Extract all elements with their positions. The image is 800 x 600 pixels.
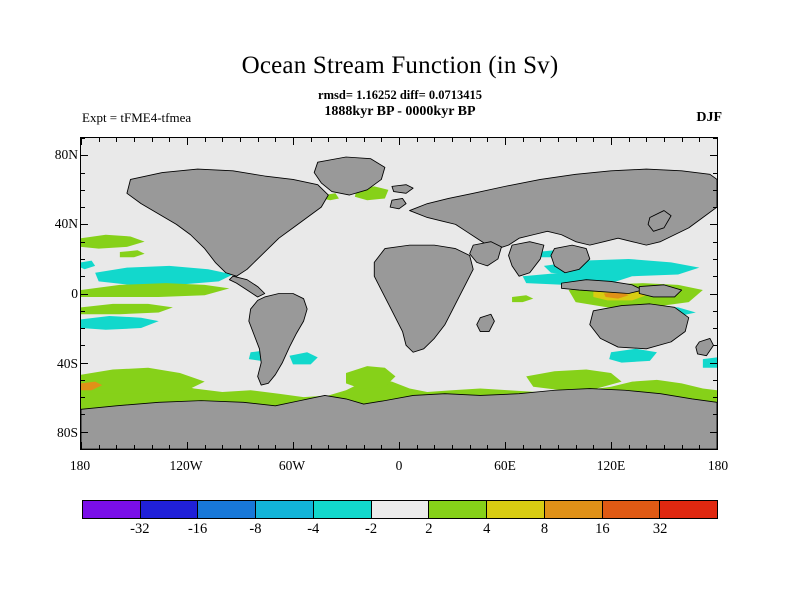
x-tick--60 <box>293 442 294 449</box>
x-tick-top--150 <box>134 138 135 142</box>
y-tick-80 <box>81 155 88 156</box>
x-tick-150 <box>664 445 665 449</box>
x-tick-top--130 <box>169 138 170 142</box>
x-tick-120 <box>611 442 612 449</box>
x-tick-top--40 <box>328 138 329 142</box>
x-tick--110 <box>205 445 206 449</box>
x-tick-top-50 <box>487 138 488 142</box>
x-tick-label-120w: 120W <box>151 458 221 474</box>
x-tick-100 <box>576 445 577 449</box>
y-tick--20 <box>81 328 85 329</box>
x-tick-top--140 <box>152 138 153 142</box>
x-tick-130 <box>629 445 630 449</box>
y-tick--10 <box>81 311 85 312</box>
x-tick-top-60 <box>505 138 506 145</box>
x-tick-top--30 <box>346 138 347 142</box>
x-tick-top-120 <box>611 138 612 145</box>
y-tick-right-10 <box>713 276 717 277</box>
x-tick--160 <box>116 445 117 449</box>
x-tick-top--60 <box>293 138 294 145</box>
x-tick--40 <box>328 445 329 449</box>
y-tick-right--20 <box>713 328 717 329</box>
x-tick--80 <box>258 445 259 449</box>
y-tick-label-80n: 80N <box>30 148 78 162</box>
x-tick-60 <box>505 442 506 449</box>
y-tick--70 <box>81 414 85 415</box>
x-tick-20 <box>434 445 435 449</box>
x-tick-top-160 <box>682 138 683 142</box>
y-tick-label-40n: 40N <box>30 217 78 231</box>
colorbar-band-8 <box>545 501 603 518</box>
x-tick-50 <box>487 445 488 449</box>
colorbar-band-10 <box>660 501 717 518</box>
x-tick-label-0: 0 <box>364 458 434 474</box>
y-tick-50 <box>81 207 85 208</box>
map-plot-area <box>80 137 718 450</box>
colorbar-band-9 <box>603 501 661 518</box>
experiment-label: Expt = tFME4-tfmea <box>82 110 191 126</box>
y-tick-right-90 <box>713 138 717 139</box>
colorbar-tick-16: 16 <box>595 521 610 538</box>
y-tick-right-30 <box>713 242 717 243</box>
x-tick-10 <box>417 445 418 449</box>
y-tick-right-20 <box>713 259 717 260</box>
y-tick-10 <box>81 276 85 277</box>
x-tick-top--90 <box>240 138 241 142</box>
colorbar-band-0 <box>83 501 141 518</box>
x-tick-30 <box>452 445 453 449</box>
x-tick-top-40 <box>470 138 471 142</box>
colorbar-band-6 <box>429 501 487 518</box>
x-tick-110 <box>593 445 594 449</box>
y-tick-right-60 <box>713 190 717 191</box>
x-tick-top--50 <box>311 138 312 142</box>
y-tick-right-0 <box>710 294 717 295</box>
y-tick-right-80 <box>710 155 717 156</box>
y-tick-right--80 <box>710 432 717 433</box>
x-tick-top-90 <box>558 138 559 142</box>
y-tick--60 <box>81 397 85 398</box>
x-tick-top--110 <box>205 138 206 142</box>
x-tick-180 <box>717 442 718 449</box>
y-tick-30 <box>81 242 85 243</box>
y-tick-label-40s: 40S <box>30 357 78 371</box>
x-tick-top--20 <box>364 138 365 142</box>
x-tick-top-110 <box>593 138 594 142</box>
y-tick-label-0: 0 <box>30 287 78 301</box>
colorbar-tick-8: 8 <box>541 521 548 538</box>
x-tick-80 <box>540 445 541 449</box>
y-tick-right--10 <box>713 311 717 312</box>
y-tick-label-80s: 80S <box>30 426 78 440</box>
y-tick--50 <box>81 380 85 381</box>
colorbar-tick--4: -4 <box>307 521 319 538</box>
x-tick-top--160 <box>116 138 117 142</box>
y-tick--90 <box>81 449 85 450</box>
y-tick-60 <box>81 190 85 191</box>
x-tick-top-130 <box>629 138 630 142</box>
x-tick-top-80 <box>540 138 541 142</box>
colorbar-band-7 <box>487 501 545 518</box>
x-tick--170 <box>99 445 100 449</box>
colorbar-tick-labels: -32-16-8-4-22481632 <box>82 521 718 541</box>
rmsd-annotation: rmsd= 1.16252 diff= 0.0713415 <box>0 88 800 103</box>
world-map <box>81 138 717 449</box>
x-tick--90 <box>240 445 241 449</box>
x-tick--50 <box>311 445 312 449</box>
colorbar-band-5 <box>372 501 430 518</box>
y-tick-20 <box>81 259 85 260</box>
x-tick--30 <box>346 445 347 449</box>
y-tick--80 <box>81 432 88 433</box>
y-tick--40 <box>81 363 88 364</box>
x-tick-140 <box>646 445 647 449</box>
x-tick-top-20 <box>434 138 435 142</box>
colorbar <box>82 500 718 519</box>
x-tick-90 <box>558 445 559 449</box>
colorbar-tick-4: 4 <box>483 521 490 538</box>
x-tick-top--70 <box>275 138 276 142</box>
x-tick--10 <box>381 445 382 449</box>
x-tick-top-70 <box>523 138 524 142</box>
y-tick--30 <box>81 345 85 346</box>
x-tick--180 <box>81 442 82 449</box>
colorbar-band-3 <box>256 501 314 518</box>
colorbar-band-4 <box>314 501 372 518</box>
colorbar-band-2 <box>198 501 256 518</box>
x-tick-label-60w: 60W <box>257 458 327 474</box>
y-tick-0 <box>81 294 88 295</box>
x-tick-label-120e: 120E <box>576 458 646 474</box>
y-tick-90 <box>81 138 85 139</box>
x-tick-top-180 <box>717 138 718 145</box>
x-tick--120 <box>187 442 188 449</box>
x-tick--130 <box>169 445 170 449</box>
y-tick-40 <box>81 224 88 225</box>
x-tick-170 <box>699 445 700 449</box>
y-tick-right-50 <box>713 207 717 208</box>
x-tick-top--170 <box>99 138 100 142</box>
x-tick-top-170 <box>699 138 700 142</box>
x-tick-top--120 <box>187 138 188 145</box>
x-tick-label-60e: 60E <box>470 458 540 474</box>
x-tick--20 <box>364 445 365 449</box>
x-tick-40 <box>470 445 471 449</box>
figure-root: Ocean Stream Function (in Sv) rmsd= 1.16… <box>0 0 800 600</box>
y-tick-right-70 <box>713 173 717 174</box>
colorbar-tick--8: -8 <box>249 521 261 538</box>
x-tick-top--10 <box>381 138 382 142</box>
x-tick-label-180e: 180 <box>683 458 753 474</box>
y-tick-right--70 <box>713 414 717 415</box>
y-tick-right--50 <box>713 380 717 381</box>
x-tick-top-140 <box>646 138 647 142</box>
y-tick-right-40 <box>710 224 717 225</box>
x-tick-top--180 <box>81 138 82 145</box>
x-tick-0 <box>399 442 400 449</box>
x-tick-top-150 <box>664 138 665 142</box>
colorbar-tick-32: 32 <box>653 521 668 538</box>
x-tick-label-180w: 180 <box>45 458 115 474</box>
colorbar-tick--16: -16 <box>188 521 207 538</box>
colorbar-band-1 <box>141 501 199 518</box>
x-tick-top--100 <box>222 138 223 142</box>
season-label: DJF <box>696 110 722 126</box>
colorbar-tick--2: -2 <box>365 521 377 538</box>
x-tick-70 <box>523 445 524 449</box>
x-tick-top-10 <box>417 138 418 142</box>
x-tick-top--80 <box>258 138 259 142</box>
x-tick--150 <box>134 445 135 449</box>
y-tick-right--40 <box>710 363 717 364</box>
x-tick--70 <box>275 445 276 449</box>
x-tick--100 <box>222 445 223 449</box>
x-tick--140 <box>152 445 153 449</box>
figure-title: Ocean Stream Function (in Sv) <box>0 52 800 80</box>
y-tick-right--60 <box>713 397 717 398</box>
x-tick-top-30 <box>452 138 453 142</box>
y-tick-70 <box>81 173 85 174</box>
colorbar-tick--32: -32 <box>130 521 149 538</box>
y-tick-right--90 <box>713 449 717 450</box>
y-tick-right--30 <box>713 345 717 346</box>
colorbar-tick-2: 2 <box>425 521 432 538</box>
x-tick-top-0 <box>399 138 400 145</box>
x-tick-160 <box>682 445 683 449</box>
x-tick-top-100 <box>576 138 577 142</box>
